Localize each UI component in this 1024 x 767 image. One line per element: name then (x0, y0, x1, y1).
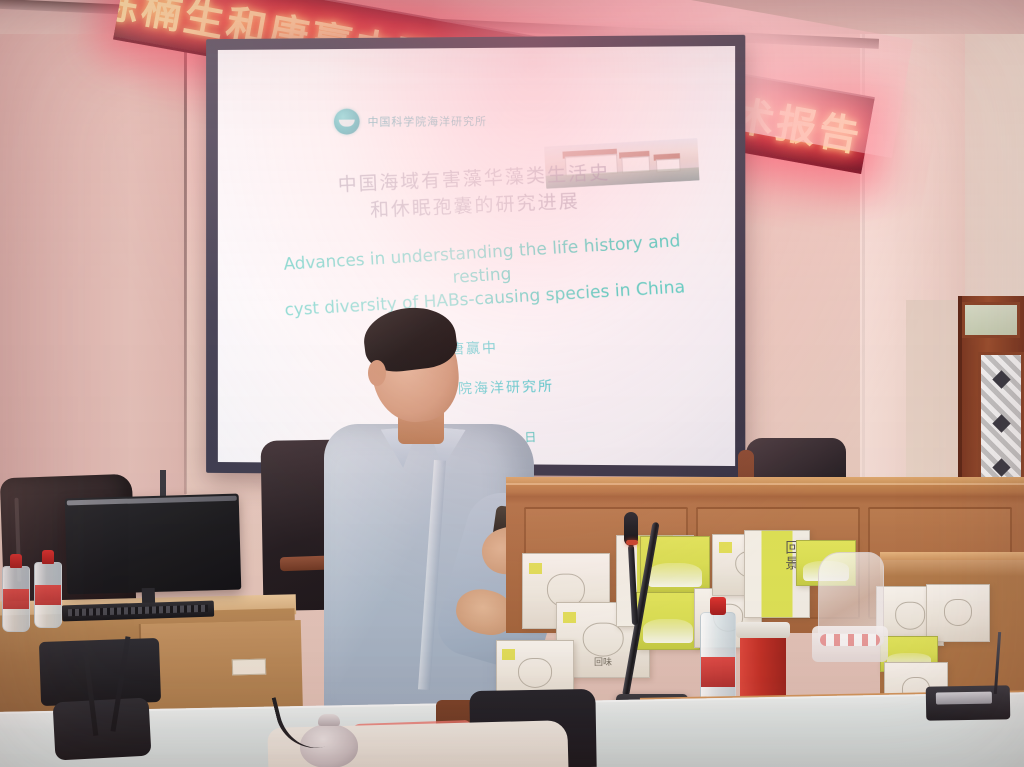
desk-name-card (232, 659, 266, 676)
water-bottle-2[interactable] (34, 562, 62, 628)
microphone-status-led (626, 540, 638, 545)
box-swirl-motif (583, 622, 624, 657)
small-bottle-pack[interactable] (812, 626, 888, 662)
wall-seam-left (184, 24, 187, 494)
wave-emblem-icon (334, 109, 360, 135)
desktop-monitor[interactable] (65, 494, 242, 595)
presenter-ear (368, 360, 386, 386)
camera-equipment (53, 698, 152, 761)
paper-cup-lid (736, 622, 790, 638)
box-green-graphic (648, 563, 702, 588)
water-bottle-1[interactable] (2, 566, 30, 632)
wall-recess-right (906, 300, 958, 480)
product-box-9[interactable] (926, 584, 990, 642)
foreground-control-console[interactable] (926, 685, 1011, 720)
box-swirl-motif (518, 658, 552, 688)
slide-institute-logo: 中国科学院海洋研究所 (334, 108, 487, 135)
wall-left-panel (0, 0, 186, 500)
box-tag (719, 542, 732, 553)
box-tag (563, 612, 576, 623)
box-swirl-motif (895, 602, 925, 630)
box-label-2: 回味 (594, 655, 612, 668)
slide-logo-label: 中国科学院海洋研究所 (368, 113, 487, 130)
slide-title-chinese: 中国海域有害藻华藻类生活史 和休眠孢囊的研究进展 (218, 154, 735, 231)
under-desk-equipment (39, 638, 161, 706)
lecture-hall-scene: 欢迎中科院海洋所陈楠生和唐赢中研究员来我院做学术报告 中国科学院海洋研究所 中国… (0, 0, 1024, 767)
box-tag (502, 649, 515, 660)
box-green-graphic (643, 619, 693, 644)
box-swirl-motif (944, 599, 972, 626)
monitor-top-bezel (67, 496, 237, 506)
box-tag (529, 563, 542, 574)
door-transom-window (962, 302, 1020, 338)
